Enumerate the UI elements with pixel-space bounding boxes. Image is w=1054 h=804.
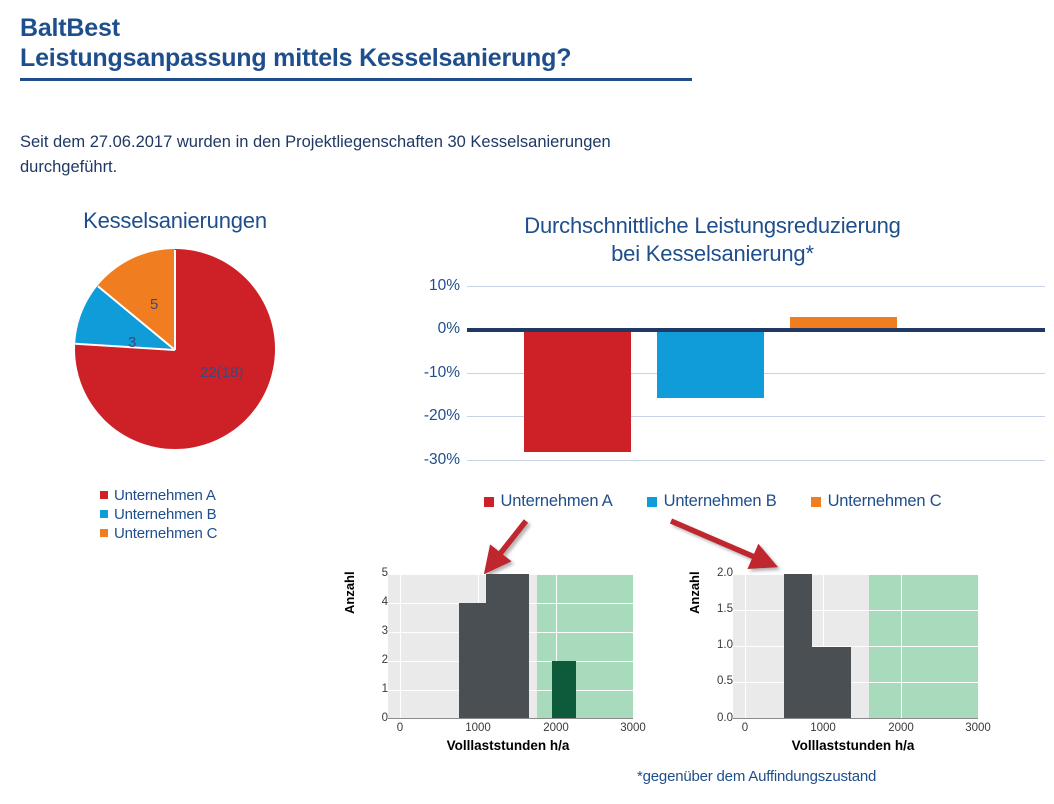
hist-left-bar-3[interactable] [509, 574, 529, 719]
hist-left-ytick-1: 1 [344, 683, 388, 695]
hist-left-vgrid-0 [400, 574, 401, 719]
hist-right-bar-2[interactable] [812, 647, 851, 719]
hist-right-gridline-1_5 [733, 610, 978, 611]
hist-right-xtick-0: 0 [725, 722, 765, 734]
footnote-text: *gegenüber dem Auffindungszustand [637, 768, 876, 785]
pie-slice-label-b: 3 [128, 334, 136, 351]
legend-swatch-icon-a [100, 491, 108, 499]
bar-legend-item-b: Unternehmen B [647, 492, 777, 511]
bar-chart-block: Durchschnittliche Leistungsreduzierung b… [380, 212, 1045, 527]
gridline-neg30 [467, 460, 1045, 461]
slide-root: BaltBest Leistungsanpassung mittels Kess… [0, 0, 1054, 804]
hist-left-xtick-0: 0 [380, 722, 420, 734]
bar-legend-item-a: Unternehmen A [484, 492, 613, 511]
title-divider [20, 78, 692, 81]
hist-left-ytick-3: 3 [344, 625, 388, 637]
pie-legend-item-b: Unternehmen B [100, 505, 217, 523]
legend-swatch-icon-a [484, 497, 494, 507]
hist-left-bar-2[interactable] [486, 574, 509, 719]
hist-left-ytick-4: 4 [344, 596, 388, 608]
gridline-10 [467, 286, 1045, 287]
hist-right-panel [733, 574, 978, 719]
hist-left-xtick-3000: 3000 [613, 722, 653, 734]
hist-left-axis-line [388, 718, 633, 719]
bar-legend-label-b: Unternehmen B [664, 492, 777, 511]
hist-right-ytick-1_5: 1.5 [689, 603, 733, 615]
histogram-left: Anzahl 5 4 3 2 1 0 0 100 [340, 562, 640, 762]
hist-right-ytick-1_0: 1.0 [689, 639, 733, 651]
pie-legend-label-b: Unternehmen B [114, 506, 216, 523]
hist-right-ytick-0_5: 0.5 [689, 675, 733, 687]
pie-legend-item-c: Unternehmen C [100, 524, 217, 542]
hist-right-vgrid-3000 [978, 574, 979, 719]
bar-ytick-0: 0% [390, 320, 460, 338]
hist-right-xtick-2000: 2000 [881, 722, 921, 734]
hist-left-ytick-2: 2 [344, 654, 388, 666]
intro-paragraph: Seit dem 27.06.2017 wurden in den Projek… [20, 130, 640, 180]
hist-right-xtick-3000: 3000 [958, 722, 998, 734]
hist-left-xlabel: Volllaststunden h/a [384, 738, 632, 753]
arrow-to-left-histogram [492, 521, 526, 564]
legend-swatch-icon-b [100, 510, 108, 518]
pie-separator-start [174, 250, 176, 350]
hist-left-xtick-1000: 1000 [458, 722, 498, 734]
pie-legend-label-a: Unternehmen A [114, 487, 216, 504]
page-title-line2: Leistungsanpassung mittels Kesselsanieru… [20, 43, 692, 73]
bar-ytick-10: 10% [390, 277, 460, 295]
arrow-to-right-histogram [671, 521, 766, 562]
hist-left-panel [388, 574, 633, 719]
bar-legend-label-c: Unternehmen C [828, 492, 942, 511]
bar-chart-title-line2: bei Kesselsanierung* [380, 240, 1045, 268]
slide-header: BaltBest Leistungsanpassung mittels Kess… [20, 14, 692, 81]
hist-right-bar-1[interactable] [784, 574, 812, 719]
hist-right-gridline-1_0 [733, 646, 978, 647]
histogram-right: Anzahl 2.0 1.5 1.0 0.5 0.0 0 1000 2000 3… [685, 562, 985, 762]
bar-chart-plot: 10% 0% -10% -20% -30% [380, 286, 1045, 486]
page-title-line1: BaltBest [20, 14, 692, 43]
bar-legend-label-a: Unternehmen A [501, 492, 613, 511]
hist-right-ytick-2_0: 2.0 [689, 567, 733, 579]
hist-left-ytick-5: 5 [344, 567, 388, 579]
bar-chart-title-line1: Durchschnittliche Leistungsreduzierung [380, 212, 1045, 240]
bar-zero-axis-line [467, 328, 1045, 332]
pie-legend: Unternehmen A Unternehmen B Unternehmen … [100, 486, 217, 543]
bar-unternehmen-a[interactable] [524, 331, 631, 452]
legend-swatch-icon-c [100, 529, 108, 537]
bar-ytick-neg30: -30% [390, 451, 460, 469]
hist-right-gridline-2_0 [733, 574, 978, 575]
bar-chart-legend: Unternehmen A Unternehmen B Unternehmen … [380, 492, 1045, 511]
hist-left-vgrid-3000 [633, 574, 634, 719]
pie-legend-item-a: Unternehmen A [100, 486, 217, 504]
legend-swatch-icon-c [811, 497, 821, 507]
hist-left-bar-1[interactable] [459, 603, 486, 719]
hist-right-vgrid-2000 [901, 574, 902, 719]
hist-right-vgrid-0 [745, 574, 746, 719]
pie-legend-label-c: Unternehmen C [114, 525, 217, 542]
hist-right-gridline-0_5 [733, 682, 978, 683]
bar-unternehmen-b[interactable] [657, 331, 764, 398]
pie-chart-block: Kesselsanierungen 22(18) 3 5 Unternehmen… [10, 208, 340, 459]
pie-slice-label-a: 22(18) [200, 364, 243, 381]
bar-ytick-neg20: -20% [390, 407, 460, 425]
legend-swatch-icon-b [647, 497, 657, 507]
hist-right-xtick-1000: 1000 [803, 722, 843, 734]
pie-chart-title: Kesselsanierungen [10, 208, 340, 234]
hist-right-axis-line [733, 718, 978, 719]
hist-right-xlabel: Volllaststunden h/a [729, 738, 977, 753]
bar-chart-title: Durchschnittliche Leistungsreduzierung b… [380, 212, 1045, 268]
hist-left-xtick-2000: 2000 [536, 722, 576, 734]
bar-legend-item-c: Unternehmen C [811, 492, 942, 511]
pie-slice-label-c: 5 [150, 296, 158, 313]
pie-chart-canvas: 22(18) 3 5 [10, 244, 340, 459]
hist-left-bar-4[interactable] [552, 661, 576, 719]
bar-ytick-neg10: -10% [390, 364, 460, 382]
